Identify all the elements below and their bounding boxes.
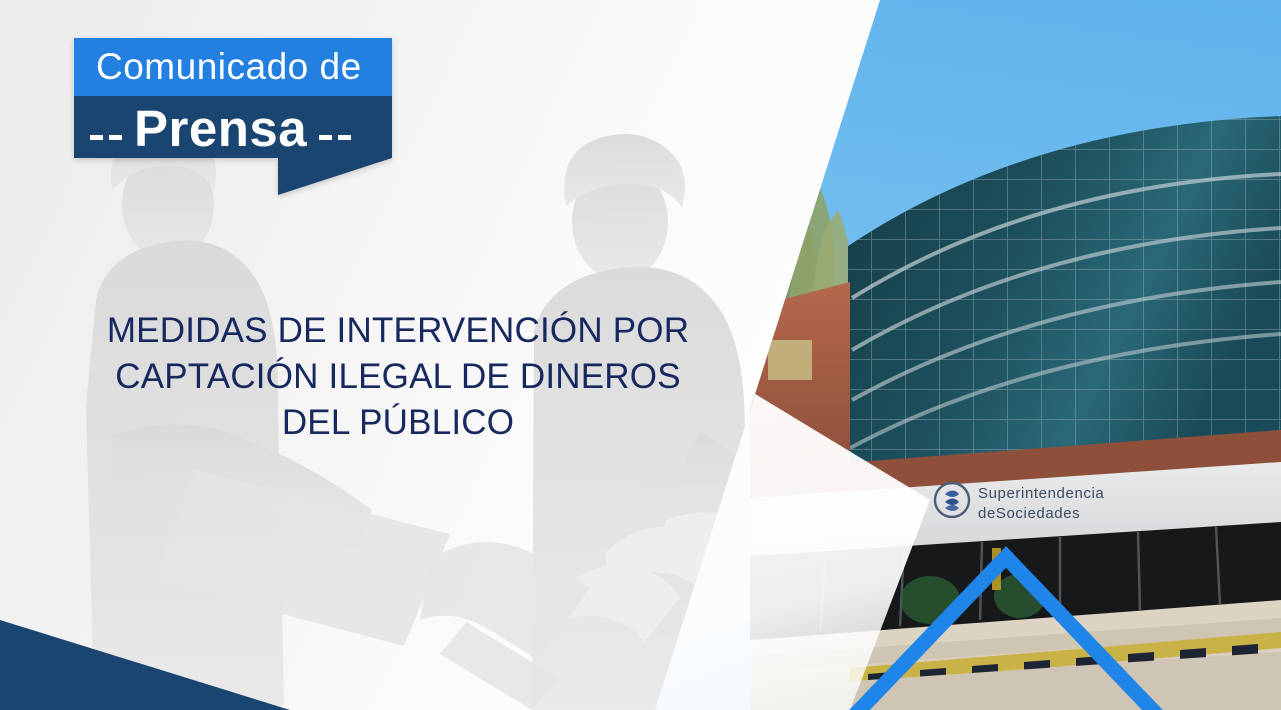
- glass-facade: [848, 116, 1281, 470]
- headline-line-2: CAPTACIÓN ILEGAL DE DINEROS: [48, 354, 748, 400]
- dash-left-1: [90, 135, 103, 140]
- badge-bottom-label: Prensa: [134, 103, 307, 154]
- signage-line-1: Superintendencia: [978, 485, 1104, 502]
- headline-line-3: DEL PÚBLICO: [48, 400, 748, 446]
- badge-bottom-row: Prensa: [74, 96, 392, 158]
- page-title: MEDIDAS DE INTERVENCIÓN POR CAPTACIÓN IL…: [48, 308, 748, 447]
- signage-line-2: deSociedades: [978, 505, 1080, 522]
- badge-top-label: Comunicado de: [74, 38, 392, 96]
- dash-right-1: [319, 135, 332, 140]
- dash-left-2: [109, 135, 122, 140]
- dash-right-2: [338, 135, 351, 140]
- press-release-banner: Superintendencia deSociedades: [0, 0, 1281, 710]
- press-release-badge: Comunicado de Prensa: [74, 38, 392, 158]
- headline-line-1: MEDIDAS DE INTERVENCIÓN POR: [48, 308, 748, 354]
